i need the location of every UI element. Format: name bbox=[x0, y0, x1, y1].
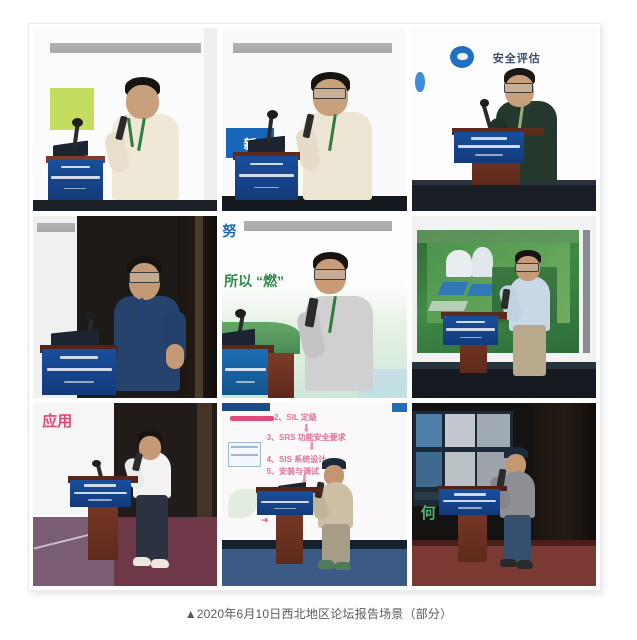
collage-photo-6[interactable] bbox=[412, 216, 596, 399]
photo-3-scene: 安全评估 bbox=[412, 28, 596, 211]
photo-4-slide-title-bar bbox=[37, 223, 76, 232]
photo-8-speaker-shoe-left bbox=[318, 560, 335, 568]
photo-6-screen-edge bbox=[583, 230, 590, 352]
photo-7-speaker-shoe-right bbox=[151, 559, 169, 568]
collage-photo-4[interactable] bbox=[33, 216, 217, 399]
photo-8-slide-list-item-1: 2、SIL 定级 bbox=[274, 411, 403, 424]
photo-7-speaker-shoe-left bbox=[133, 557, 151, 566]
photo-4-wall-trim bbox=[195, 216, 202, 399]
photo-8-slide-flow-box bbox=[228, 442, 261, 468]
photo-6-stage-front bbox=[412, 369, 596, 398]
photo-4-speaker-glasses bbox=[129, 272, 160, 283]
photo-1-stage-front bbox=[33, 200, 217, 211]
photo-6-speaker-trousers bbox=[513, 325, 546, 376]
photo-9-speaker-shoe-left bbox=[500, 559, 517, 567]
conference-photo-collage: 新 bbox=[28, 23, 601, 591]
photo-3-speaker-glasses bbox=[504, 83, 534, 93]
photo-7-wall-trim bbox=[197, 403, 212, 516]
photo-1-speaker-face bbox=[126, 85, 159, 120]
photo-1-podium-banner bbox=[48, 160, 103, 200]
photo-8-slide-arrow-down-2: ⬇ bbox=[307, 440, 322, 449]
photo-7-scene: 应用 bbox=[33, 403, 217, 586]
photo-5-speaker-glasses bbox=[314, 269, 345, 280]
photo-6-stage-lip bbox=[412, 362, 596, 369]
photo-9-speaker-jeans bbox=[504, 515, 532, 562]
photo-5-slide-heading: 所以 “燃” bbox=[224, 269, 312, 295]
collage-caption: ▲2020年6月10日西北地区论坛报告场景（部分） bbox=[0, 605, 637, 622]
photo-5-podium-banner bbox=[222, 349, 268, 395]
collage-photo-8[interactable]: ➜ 2、SIL 定级 3、SRS 功能安全要求 4、SIS 系统设计 5、安装与… bbox=[222, 403, 406, 586]
photo-4-speaker-hand bbox=[166, 344, 184, 370]
photo-8-stage-floor bbox=[222, 549, 406, 586]
photo-8-stage-lip bbox=[222, 540, 406, 549]
photo-7-slide-heading: 应用 bbox=[42, 411, 97, 431]
photo-8-slide-arrow-down-1: ⬇ bbox=[302, 422, 317, 431]
photo-8-speaker-shoe-right bbox=[335, 562, 352, 570]
photo-8-slide-arrow-1: ➜ bbox=[254, 414, 267, 423]
collage-photo-5[interactable]: 努 所以 “燃” bbox=[222, 216, 406, 399]
photo-3-slide-heading: 安全评估 bbox=[493, 50, 556, 66]
photo-2-podium-banner bbox=[235, 156, 298, 200]
photo-1-slide-title-bar bbox=[50, 43, 201, 53]
photo-9-scene: 何 bbox=[412, 403, 596, 586]
photo-8-scene: ➜ 2、SIL 定级 3、SRS 功能安全要求 4、SIS 系统设计 5、安装与… bbox=[222, 403, 406, 586]
photo-1-scene bbox=[33, 28, 217, 211]
photo-7-podium-banner bbox=[70, 480, 131, 507]
collage-photo-9[interactable]: 何 bbox=[412, 403, 596, 586]
photo-9-curtain bbox=[533, 403, 596, 545]
photo-9-speaker-shoe-right bbox=[517, 560, 534, 568]
photo-8-slide-pink-bar bbox=[230, 416, 274, 421]
photo-1-lectern-mic-head bbox=[72, 118, 83, 127]
photo-5-scene: 努 所以 “燃” bbox=[222, 216, 406, 399]
photo-2-slide-title-bar bbox=[233, 43, 392, 53]
photo-5-slide-title-bar bbox=[244, 221, 391, 231]
photo-5-podium-body bbox=[268, 353, 294, 399]
photo-grid: 新 bbox=[33, 28, 596, 586]
collage-photo-2[interactable]: 新 bbox=[222, 28, 406, 211]
photo-4-podium-banner bbox=[42, 349, 116, 395]
collage-photo-1[interactable] bbox=[33, 28, 217, 211]
photo-3-podium-banner bbox=[454, 132, 524, 163]
photo-4-lectern-mic-head bbox=[85, 311, 96, 320]
photo-8-slide-corner-strip bbox=[392, 403, 407, 412]
photo-8-slide-arrow-2: ➜ bbox=[261, 515, 274, 524]
photo-7-speaker-trousers bbox=[136, 495, 167, 561]
collage-photo-3[interactable]: 安全评估 bbox=[412, 28, 596, 211]
photo-5-slide-corner-text: 努 bbox=[222, 221, 246, 237]
photo-3-lectern-mic-head bbox=[480, 99, 489, 106]
photo-6-podium-banner bbox=[443, 316, 498, 345]
photo-8-slide-top-strip bbox=[222, 403, 270, 410]
photo-6-scene bbox=[412, 216, 596, 399]
photo-1-wall-edge bbox=[204, 28, 217, 200]
photo-8-slide-list-item-2: 3、SRS 功能安全要求 bbox=[267, 431, 403, 444]
photo-6-speaker-glasses bbox=[515, 263, 539, 272]
photo-2-scene: 新 bbox=[222, 28, 406, 211]
photo-2-lectern-mic-head bbox=[267, 110, 278, 119]
photo-8-slide-arrow-down-3: ⬇ bbox=[300, 473, 315, 482]
photo-8-podium-banner bbox=[257, 491, 312, 515]
photo-2-speaker-glasses bbox=[313, 88, 346, 99]
photo-9-podium-banner bbox=[439, 489, 500, 515]
photo-3-stage-front bbox=[412, 185, 596, 211]
photo-8-speaker-trousers bbox=[322, 524, 350, 564]
photo-4-scene bbox=[33, 216, 217, 399]
collage-photo-7[interactable]: 应用 bbox=[33, 403, 217, 586]
photo-3-slide-decor-dot bbox=[415, 72, 424, 92]
